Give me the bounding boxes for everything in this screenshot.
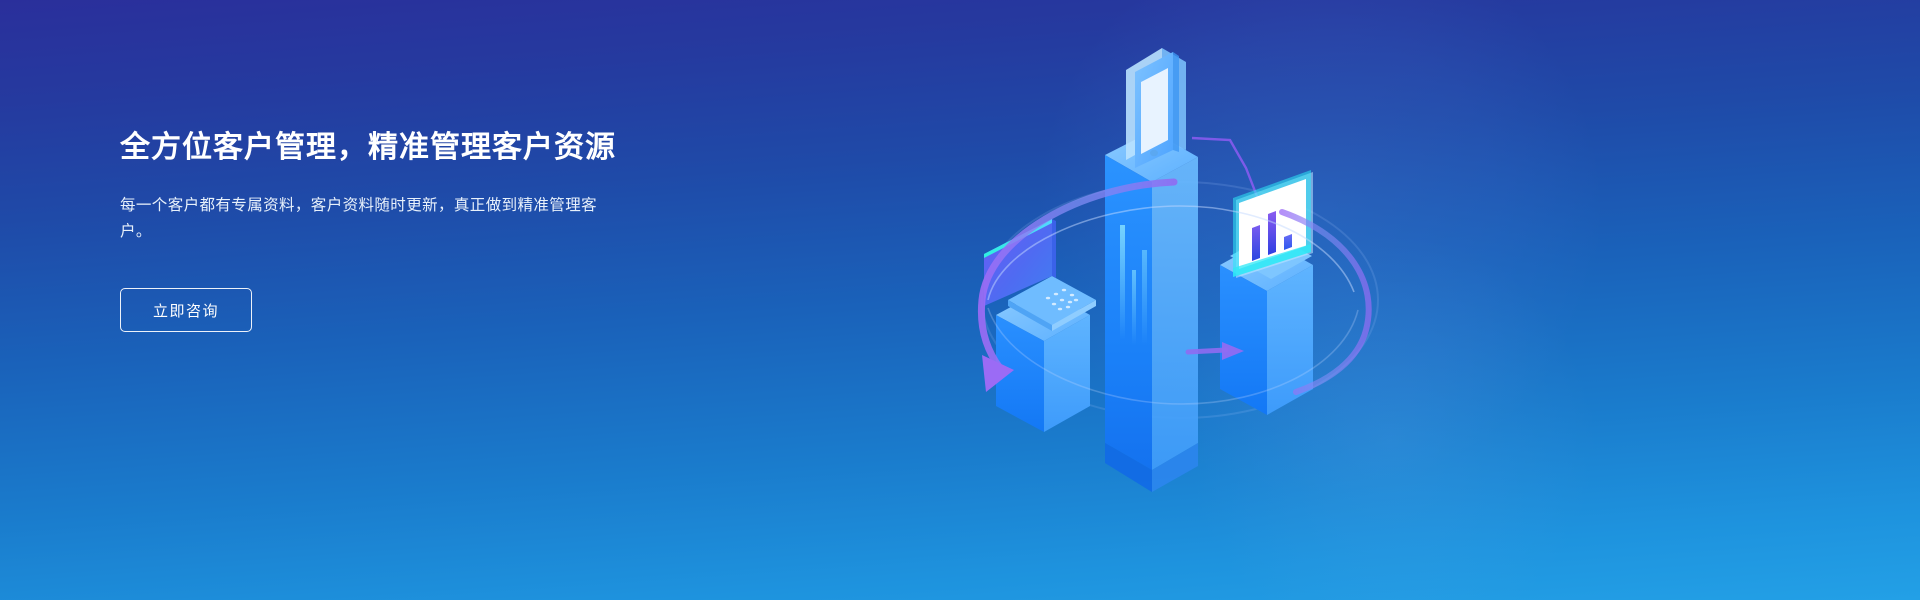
consult-now-button[interactable]: 立即咨询 bbox=[120, 288, 252, 332]
monitor-bar-2 bbox=[1268, 211, 1276, 255]
hero-subtitle: 每一个客户都有专属资料，客户资料随时更新，真正做到精准管理客户。 bbox=[120, 193, 600, 244]
hero-illustration bbox=[930, 0, 1450, 600]
page-title: 全方位客户管理，精准管理客户资源 bbox=[120, 128, 680, 167]
monitor-bar-1 bbox=[1252, 225, 1260, 261]
hero-banner: 全方位客户管理，精准管理客户资源 每一个客户都有专属资料，客户资料随时更新，真正… bbox=[0, 0, 1920, 600]
hero-copy-block: 全方位客户管理，精准管理客户资源 每一个客户都有专属资料，客户资料随时更新，真正… bbox=[120, 128, 680, 332]
